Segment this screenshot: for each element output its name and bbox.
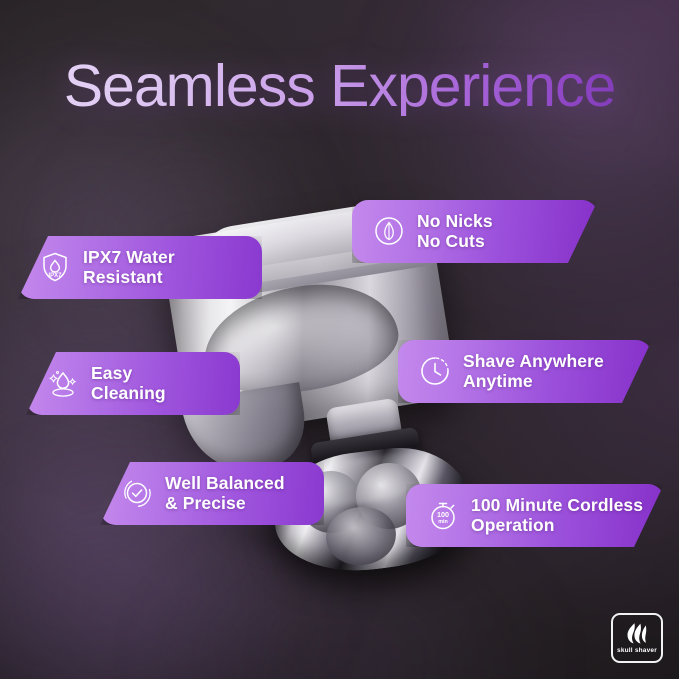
leaf-circle-icon (372, 214, 406, 248)
svg-text:IPX7: IPX7 (48, 273, 62, 279)
feature-badge-label: Easy Cleaning (91, 363, 166, 404)
svg-text:100: 100 (437, 510, 449, 519)
feature-badge-easy-cleaning: Easy Cleaning (26, 352, 240, 415)
marketing-graphic: Seamless Experience IPX7 IPX7 Water Resi… (0, 0, 679, 679)
double-flame-mark-icon (623, 622, 651, 646)
water-drop-sparkle-icon (46, 366, 80, 400)
feature-badge-cordless-runtime: 100 min 100 Minute Cordless Operation (406, 484, 664, 547)
page-title: Seamless Experience (0, 57, 679, 116)
feature-badge-label: IPX7 Water Resistant (83, 247, 175, 288)
shield-water-drop-icon: IPX7 (38, 250, 72, 284)
feature-badge-well-balanced: Well Balanced & Precise (100, 462, 324, 525)
feature-badge-shave-anywhere: Shave Anywhere Anytime (398, 340, 652, 403)
feature-badge-ipx7: IPX7 IPX7 Water Resistant (18, 236, 262, 299)
stopwatch-100min-icon: 100 min (426, 498, 460, 532)
feature-badge-label: Well Balanced & Precise (165, 473, 285, 514)
feature-badge-no-nicks: No Nicks No Cuts (352, 200, 598, 263)
feature-badge-label: No Nicks No Cuts (417, 211, 493, 252)
feature-badge-label: Shave Anywhere Anytime (463, 351, 604, 392)
check-circle-icon (120, 476, 154, 510)
svg-text:min: min (438, 519, 448, 525)
brand-name: skull shaver (617, 647, 657, 654)
feature-badge-label: 100 Minute Cordless Operation (471, 495, 643, 536)
clock-icon (418, 354, 452, 388)
brand-logo: skull shaver (611, 613, 663, 663)
